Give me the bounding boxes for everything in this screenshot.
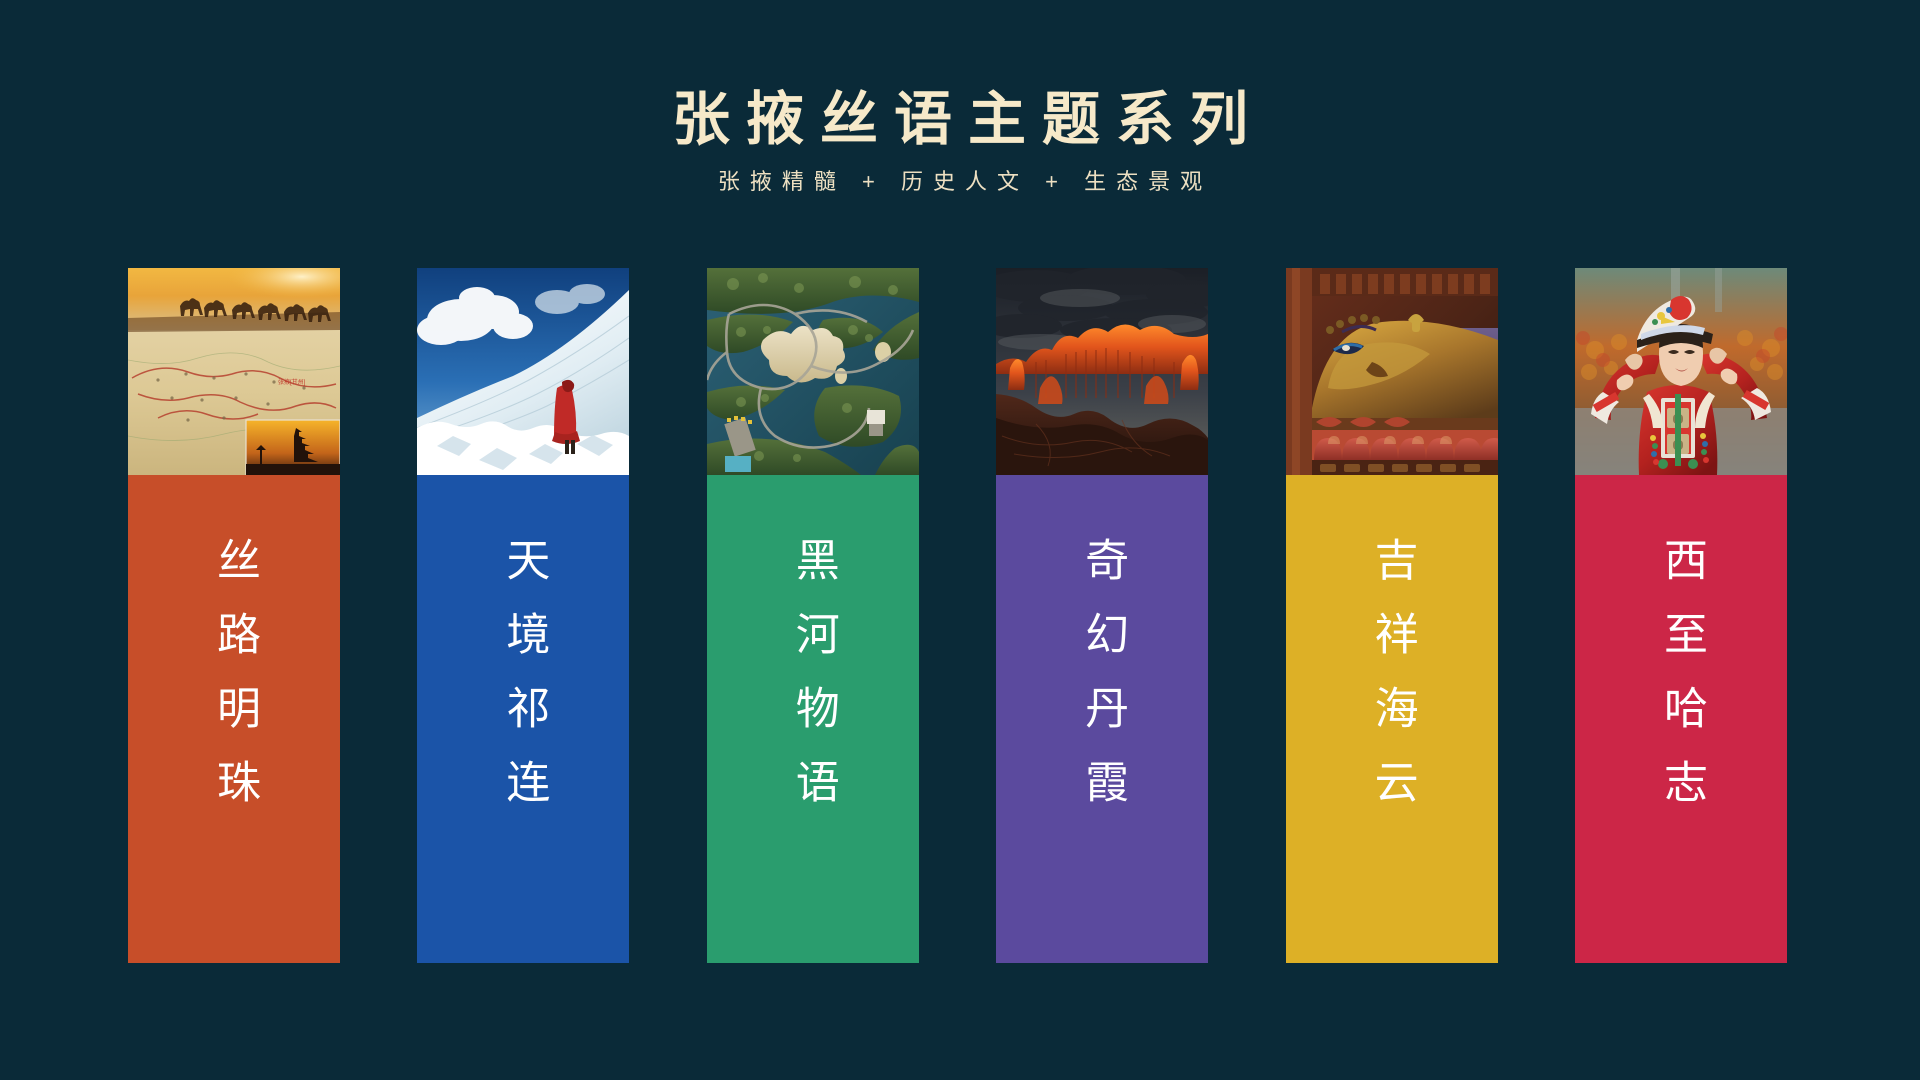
theme-card-label: 黑河物语	[776, 537, 850, 937]
page-title: 张掖丝语主题系列	[0, 88, 1920, 152]
theme-card-danxia[interactable]: 奇幻丹霞	[996, 268, 1208, 963]
silk-road-map-camel-caravan-photo: 张掖[甘州]	[128, 268, 340, 475]
page-subtitle: 张掖精髓 + 历史人文 + 生态景观	[0, 168, 1920, 196]
theme-card-qilian[interactable]: 天境祁连	[417, 268, 629, 963]
giant-reclining-buddha-photo	[1286, 268, 1498, 475]
page-header: 张掖丝语主题系列 张掖精髓 + 历史人文 + 生态景观	[0, 0, 1920, 196]
theme-card-silk-road[interactable]: 张掖[甘州] 丝路明珠	[128, 268, 340, 963]
danxia-landform-sunset-photo	[996, 268, 1208, 475]
theme-card-body: 西至哈志	[1575, 475, 1787, 963]
theme-card-body: 黑河物语	[707, 475, 919, 963]
theme-card-body: 奇幻丹霞	[996, 475, 1208, 963]
theme-card-body: 天境祁连	[417, 475, 629, 963]
theme-card-body: 吉祥海云	[1286, 475, 1498, 963]
svg-text:张掖[甘州]: 张掖[甘州]	[278, 378, 306, 386]
theme-card-label: 丝路明珠	[197, 537, 271, 937]
theme-card-body: 丝路明珠	[128, 475, 340, 963]
theme-card-label: 天境祁连	[486, 537, 560, 937]
yugur-dancer-photo	[1575, 268, 1787, 475]
theme-card-strip: 张掖[甘州] 丝路明珠	[128, 268, 1787, 963]
qilian-glacier-red-coat-photo	[417, 268, 629, 475]
theme-card-label: 吉祥海云	[1355, 537, 1429, 937]
theme-card-label: 西至哈志	[1644, 537, 1718, 937]
theme-card-yugur[interactable]: 西至哈志	[1575, 268, 1787, 963]
theme-card-buddha[interactable]: 吉祥海云	[1286, 268, 1498, 963]
heihe-wetland-aerial-photo	[707, 268, 919, 475]
theme-card-heihe[interactable]: 黑河物语	[707, 268, 919, 963]
theme-card-label: 奇幻丹霞	[1065, 537, 1139, 937]
